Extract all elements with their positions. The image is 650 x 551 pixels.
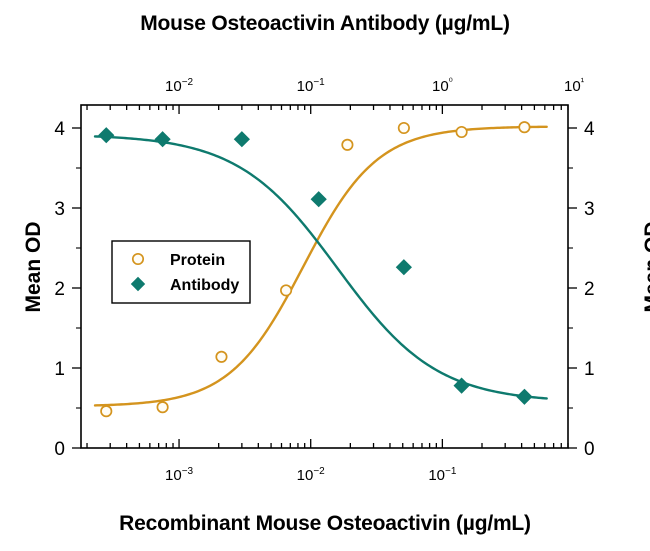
- bottom-tick-label: 10−3: [165, 466, 194, 484]
- right-tick-label: 1: [584, 359, 595, 380]
- legend-label-antibody: Antibody: [170, 277, 239, 294]
- left-tick-label: 1: [54, 359, 65, 380]
- right-tick-label: 0: [584, 439, 595, 460]
- top-tick-label: 10¹: [564, 77, 585, 95]
- top-tick-label: 10⁰: [432, 77, 453, 95]
- right-tick-label: 3: [584, 199, 595, 220]
- protein-data-point: [281, 285, 291, 295]
- protein-data-point: [101, 406, 111, 416]
- left-tick-label: 3: [54, 199, 65, 220]
- bottom-axis-title: Recombinant Mouse Osteoactivin (µg/mL): [0, 512, 650, 536]
- protein-data-point: [456, 127, 466, 137]
- protein-data-point: [216, 352, 226, 362]
- bottom-tick-label: 10−1: [428, 466, 457, 484]
- bottom-tick-label: 10−2: [297, 466, 326, 484]
- antibody-data-point: [396, 260, 411, 275]
- antibody-data-point: [234, 132, 249, 147]
- left-tick-label: 0: [54, 439, 65, 460]
- chart-plot-area: 10−210−110⁰10¹10−310−210−10123401234Prot…: [0, 0, 650, 551]
- antibody-data-point: [99, 128, 114, 143]
- right-tick-label: 2: [584, 279, 595, 300]
- antibody-data-point: [517, 389, 532, 404]
- figure-canvas: Mouse Osteoactivin Antibody (µg/mL) Mean…: [0, 0, 650, 551]
- legend-label-protein: Protein: [170, 252, 225, 269]
- top-tick-label: 10−1: [297, 77, 326, 95]
- top-tick-label: 10−2: [165, 77, 194, 95]
- legend-marker-protein: [133, 254, 143, 264]
- protein-data-point: [399, 123, 409, 133]
- left-tick-label: 2: [54, 279, 65, 300]
- protein-data-point: [342, 140, 352, 150]
- protein-data-point: [519, 122, 529, 132]
- antibody-data-point: [155, 132, 170, 147]
- left-tick-label: 4: [54, 119, 65, 140]
- protein-data-point: [157, 402, 167, 412]
- antibody-data-point: [311, 192, 326, 207]
- right-tick-label: 4: [584, 119, 595, 140]
